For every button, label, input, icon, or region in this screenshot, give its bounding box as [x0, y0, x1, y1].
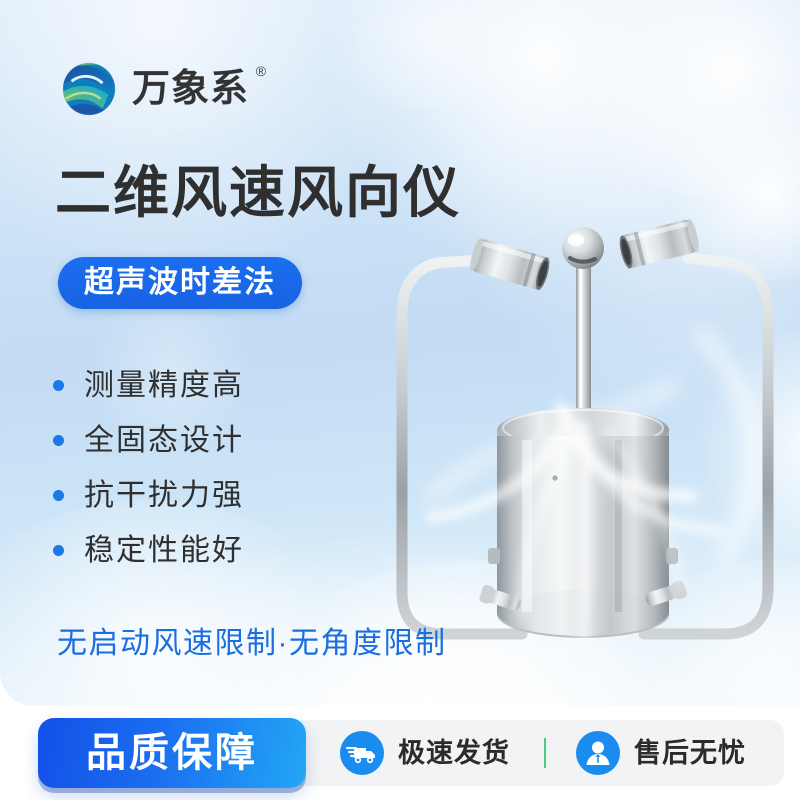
service-item-shipping: 极速发货 [340, 731, 510, 775]
registered-mark: ® [256, 64, 266, 78]
brand-name-wrap: 万象系 ® [132, 67, 249, 111]
swirl-globe-icon [58, 58, 120, 120]
page-title: 二维风速风向仪 [55, 163, 461, 223]
cloud-bloom [330, 0, 530, 110]
list-item: 全固态设计 [53, 413, 244, 468]
customer-service-icon [576, 731, 620, 775]
divider [544, 738, 546, 768]
list-item: 测量精度高 [53, 358, 244, 413]
feature-label: 全固态设计 [84, 426, 244, 456]
dot-icon [53, 490, 64, 501]
service-label: 极速发货 [398, 740, 510, 767]
feature-list: 测量精度高 全固态设计 抗干扰力强 稳定性能好 [53, 358, 244, 578]
quality-guarantee-button[interactable]: 品质保障 [38, 718, 306, 788]
dot-icon [53, 380, 64, 391]
quality-guarantee-label: 品质保障 [86, 733, 258, 773]
brand-name: 万象系 [132, 70, 249, 108]
list-item: 抗干扰力强 [53, 468, 244, 523]
method-badge-label: 超声波时差法 [84, 268, 276, 298]
brand-logo: 万象系 ® [58, 58, 249, 120]
product-poster: 万象系 ® 二维风速风向仪 超声波时差法 测量精度高 全固态设计 抗干扰力强 稳… [0, 0, 800, 800]
list-item: 稳定性能好 [53, 523, 244, 578]
service-item-aftersales: 售后无忧 [576, 731, 746, 775]
cloud-bloom [560, 0, 800, 200]
cloud-bloom [620, 560, 800, 706]
tagline: 无启动风速限制·无角度限制 [57, 629, 447, 659]
cloud-bloom [660, 110, 800, 280]
feature-label: 抗干扰力强 [84, 481, 244, 511]
dot-icon [53, 545, 64, 556]
dot-icon [53, 435, 64, 446]
feature-label: 稳定性能好 [84, 536, 244, 566]
cloud-bloom [690, 330, 800, 560]
feature-label: 测量精度高 [84, 371, 244, 401]
method-badge: 超声波时差法 [58, 257, 302, 309]
service-label: 售后无忧 [634, 740, 746, 767]
delivery-truck-icon [340, 731, 384, 775]
